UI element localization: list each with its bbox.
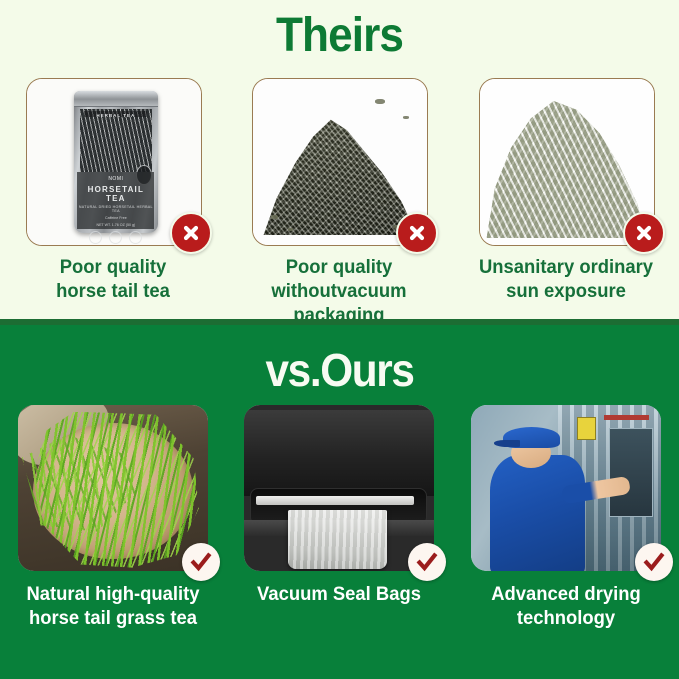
- factory-scene: [471, 405, 661, 571]
- ours-caption-2-line1: Vacuum Seal Bags: [232, 583, 447, 607]
- dried-leaf-pile: [260, 106, 420, 235]
- ours-caption-3: Advanced drying technology: [462, 583, 670, 631]
- ours-card-2: Vacuum Seal Bags: [226, 405, 452, 631]
- pouch-subtitle-text: NATURAL DRIED HORSETAIL HERBAL TEA: [77, 205, 154, 213]
- ours-caption-3-line1: Advanced drying: [462, 583, 670, 607]
- horsetail-grass-scene: [18, 405, 208, 571]
- pouch-seal-icon-2: [109, 231, 122, 244]
- cross-mark-icon: [623, 212, 665, 254]
- pouch-top-band: HERBAL TEA: [84, 111, 147, 117]
- fresh-horsetail-grass-on-wooden-plate-photo: [18, 405, 208, 571]
- leaf-crumb: [375, 99, 385, 104]
- theirs-caption-2-line1: Poor quality: [232, 256, 447, 280]
- pouch-seal-icon-3: [129, 231, 142, 244]
- machine-control-panel: [609, 428, 653, 516]
- comparison-infographic: Theirs HERBAL TEA: [0, 0, 679, 679]
- theirs-caption-1: Poor quality horse tail tea: [5, 256, 220, 304]
- factory-worker-operating-drying-machine-photo: [471, 405, 661, 571]
- leaf-crumb: [403, 116, 409, 119]
- theirs-card-3: Unsanitary ordinary sun exposure: [453, 78, 679, 327]
- theirs-card-row: HERBAL TEA NOMI HORSETAIL TEA NATURAL DR…: [0, 78, 679, 327]
- machine-red-stripe: [604, 415, 650, 420]
- ours-title: vs.Ours: [27, 347, 652, 393]
- theirs-thumb-wrap-2: [252, 78, 426, 244]
- ours-caption-3-line2: technology: [462, 607, 670, 631]
- check-mark-icon: [635, 543, 673, 581]
- vacuum-sealer-scene: [244, 405, 434, 571]
- tea-pouch: HERBAL TEA NOMI HORSETAIL TEA NATURAL DR…: [74, 91, 158, 234]
- pouch-product-text: HORSETAIL TEA: [77, 185, 154, 203]
- theirs-panel: Theirs HERBAL TEA: [0, 0, 679, 319]
- theirs-title: Theirs: [27, 12, 652, 60]
- ours-caption-1-line1: Natural high-quality: [5, 583, 220, 607]
- theirs-caption-3: Unsanitary ordinary sun exposure: [458, 256, 673, 304]
- horsetail-grass-front: [30, 412, 201, 568]
- ours-thumb-wrap-1: [18, 405, 208, 571]
- ours-caption-1: Natural high-quality horse tail grass te…: [5, 583, 220, 631]
- check-mark-icon: [408, 543, 446, 581]
- pouch-top-band-text: HERBAL TEA: [84, 111, 147, 120]
- sealer-body: [244, 410, 434, 496]
- check-mark-icon: [182, 543, 220, 581]
- warning-label-icon: [577, 417, 596, 441]
- theirs-caption-3-line1: Unsanitary ordinary: [458, 256, 673, 280]
- pouch-weight-text: NET WT. 1.76 OZ (50 g): [77, 223, 154, 227]
- sun-dried-leaf-pile: [485, 92, 649, 238]
- theirs-caption-3-line2: sun exposure: [458, 280, 673, 304]
- theirs-thumb-wrap-1: HERBAL TEA NOMI HORSETAIL TEA NATURAL DR…: [26, 78, 200, 244]
- sealer-heat-bar: [256, 496, 414, 504]
- ours-card-1: Natural high-quality horse tail grass te…: [0, 405, 226, 631]
- ours-caption-1-line2: horse tail grass tea: [5, 607, 220, 631]
- cross-mark-icon: [170, 212, 212, 254]
- ours-card-3: Advanced drying technology: [453, 405, 679, 631]
- worker-blue-cap: [503, 427, 560, 449]
- theirs-card-1: HERBAL TEA NOMI HORSETAIL TEA NATURAL DR…: [0, 78, 226, 327]
- theirs-caption-1-line2: horse tail tea: [5, 280, 220, 304]
- theirs-caption-2: Poor quality withoutvacuum packaging: [232, 256, 447, 327]
- ours-thumb-wrap-2: [244, 405, 434, 571]
- ours-card-row: Natural high-quality horse tail grass te…: [0, 405, 679, 631]
- clear-vacuum-bag: [288, 510, 387, 570]
- pouch-herb-illustration: HERBAL TEA: [80, 109, 152, 172]
- ours-thumb-wrap-3: [471, 405, 661, 571]
- pouch-brand-text: NOMI: [77, 176, 154, 182]
- ours-caption-2: Vacuum Seal Bags: [232, 583, 447, 607]
- worker-uniform: [490, 455, 585, 571]
- pouch-certification-seals: [77, 231, 154, 244]
- ours-panel: vs.Ours: [0, 325, 679, 679]
- pouch-seal-icon-1: [89, 231, 102, 244]
- cross-mark-icon: [396, 212, 438, 254]
- theirs-card-2: Poor quality withoutvacuum packaging: [226, 78, 452, 327]
- theirs-caption-1-line1: Poor quality: [5, 256, 220, 280]
- theirs-thumb-wrap-3: [479, 78, 653, 244]
- pouch-label: NOMI HORSETAIL TEA NATURAL DRIED HORSETA…: [77, 172, 154, 229]
- leaf-crumb: [271, 215, 278, 219]
- vacuum-sealer-machine-with-clear-bag-photo: [244, 405, 434, 571]
- pouch-claim-text: Caffeine Free: [77, 216, 154, 220]
